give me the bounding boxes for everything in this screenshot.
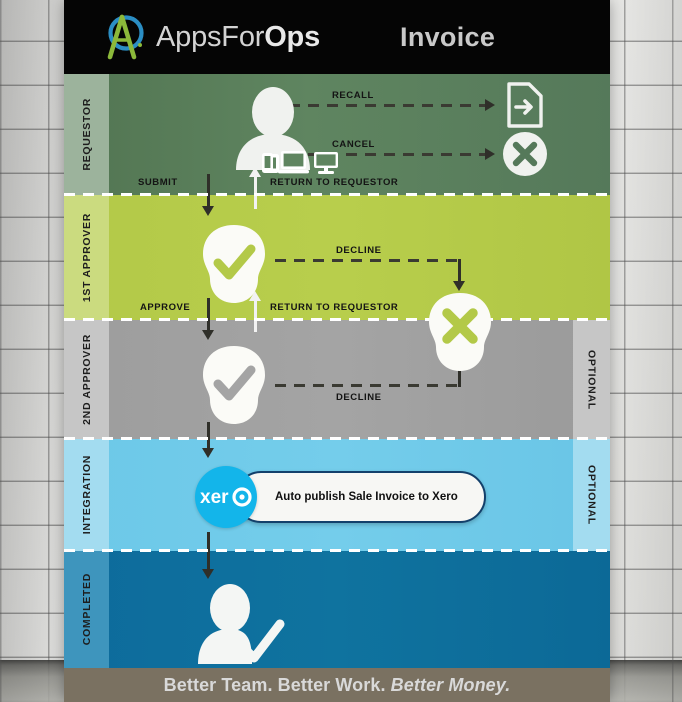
- x-badge-icon: [421, 291, 499, 373]
- poster-header: AppsForOps Invoice: [64, 0, 610, 74]
- return-line-lane2-top: [254, 195, 257, 209]
- document-recall-icon: [504, 81, 546, 129]
- to-integration-arrowhead: [202, 448, 214, 458]
- appsforops-logo-icon: [102, 12, 148, 62]
- lane-divider-4: [64, 549, 610, 552]
- return-to-requestor-label-lane1: RETURN TO REQUESTOR: [270, 177, 398, 188]
- return-to-requestor-label-lane2: RETURN TO REQUESTOR: [270, 302, 398, 313]
- approve-arrowhead: [202, 330, 214, 340]
- lane-integration: INTEGRATION OPTIONAL xer Auto publish Sa…: [64, 439, 610, 551]
- circle-x-cancel-icon: [501, 130, 549, 178]
- devices-icon-group: [260, 148, 340, 178]
- xero-action-pill[interactable]: Auto publish Sale Invoice to Xero: [235, 471, 486, 523]
- brand-name-light: AppsFor: [156, 21, 264, 53]
- document-title: Invoice: [400, 22, 495, 53]
- to-completed-line-continued: [207, 551, 210, 569]
- tagline-part1: Better Team. Better Work.: [164, 675, 391, 695]
- tagline-italic: Better Money.: [391, 675, 511, 695]
- decline-connector-lane3: [275, 384, 460, 387]
- cancel-arrowhead: [485, 148, 495, 160]
- submit-line-continued: [207, 195, 210, 206]
- invoice-workflow-poster: AppsForOps Invoice REQUESTOR: [64, 0, 610, 702]
- poster-footer: Better Team. Better Work. Better Money.: [64, 668, 610, 702]
- decline-drop-line-lane2: [458, 259, 461, 281]
- brand-name: AppsForOps: [156, 21, 320, 54]
- decline-connector-lane2: [275, 259, 460, 262]
- decline-label-lane2: DECLINE: [336, 245, 382, 256]
- approve-line-continued: [207, 320, 210, 330]
- lane-requestor-content: RECALL CANCEL SUBMIT RETURN TO REQUESTOR: [64, 74, 610, 195]
- xero-integration-action[interactable]: xer Auto publish Sale Invoice to Xero: [195, 466, 486, 528]
- lane-completed-content: [64, 551, 610, 668]
- recall-label: RECALL: [332, 90, 374, 101]
- submit-label: SUBMIT: [138, 177, 178, 188]
- lane-second-approver-content: DECLINE: [64, 320, 610, 439]
- xero-logo-icon: xer: [195, 466, 257, 528]
- to-integration-line-continued: [207, 439, 210, 448]
- lane-second-approver: 2ND APPROVER OPTIONAL DECLINE: [64, 320, 610, 439]
- lane-requestor: REQUESTOR: [64, 74, 610, 195]
- xero-action-text: Auto publish Sale Invoice to Xero: [275, 491, 458, 503]
- lane-integration-content: xer Auto publish Sale Invoice to Xero: [64, 439, 610, 551]
- lane-first-approver: 1ST APPROVER DECLINE APPROVE: [64, 195, 610, 320]
- decline-arrowhead-lane2: [453, 281, 465, 291]
- return-line-lane3-top: [254, 320, 257, 332]
- xero-logo-text: xer: [200, 487, 229, 508]
- brand-name-bold: Ops: [264, 21, 320, 53]
- to-completed-arrowhead: [202, 569, 214, 579]
- check-badge-icon: [195, 223, 273, 305]
- decline-label-lane3: DECLINE: [336, 392, 382, 403]
- approve-label: APPROVE: [140, 302, 190, 313]
- check-badge-icon: [195, 344, 273, 426]
- lane-divider-2: [64, 318, 610, 321]
- lane-divider-1: [64, 193, 610, 196]
- xero-wordmark-icon: xer: [200, 485, 252, 509]
- person-check-icon: [190, 584, 292, 670]
- lane-completed: COMPLETED: [64, 551, 610, 668]
- tagline: Better Team. Better Work. Better Money.: [164, 675, 511, 696]
- brand-lockup: AppsForOps: [102, 12, 320, 62]
- recall-arrowhead: [485, 99, 495, 111]
- submit-arrowhead: [202, 206, 214, 216]
- lane-first-approver-content: DECLINE APPROVE RETURN TO REQUESTOR: [64, 195, 610, 320]
- lane-divider-3: [64, 437, 610, 440]
